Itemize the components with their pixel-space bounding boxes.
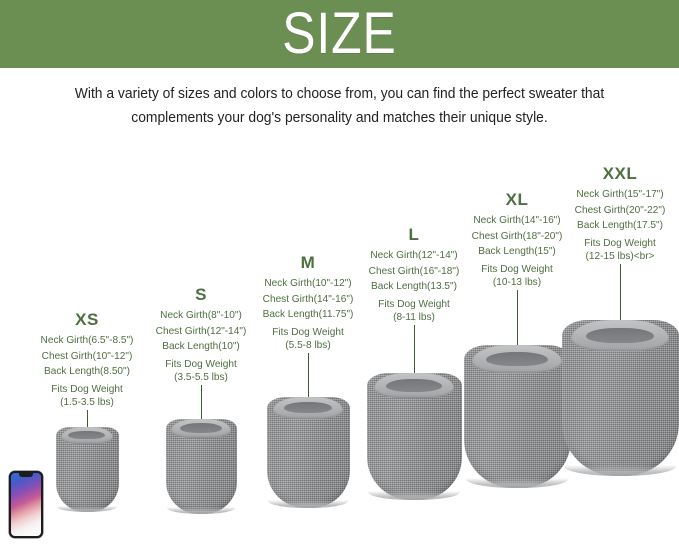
weight-block-l: Fits Dog Weight (8-11 lbs) (355, 298, 473, 325)
back-length-xxl: Back Length(17.5") (563, 218, 677, 234)
phone-screen (11, 473, 41, 536)
size-label-xs: XS (28, 310, 146, 330)
sweater-hem-xxl (564, 465, 676, 476)
sweater-body-xl (464, 345, 571, 488)
weight-value-xxl: (12-15 lbs)<br> (563, 250, 677, 264)
neck-girth-l: Neck Girth(12"-14") (357, 248, 471, 264)
sweater-collar-xs (61, 427, 114, 444)
sweater-hem-xl (466, 478, 569, 488)
sweater-collar-m (273, 397, 343, 419)
sweater-collar-opening-xl (486, 352, 549, 366)
back-length-s: Back Length(10") (144, 339, 258, 355)
chest-girth-m: Chest Girth(14"-16") (251, 292, 365, 308)
chest-girth-s: Chest Girth(12"-14") (144, 324, 258, 340)
weight-block-xl: Fits Dog Weight (10-13 lbs) (458, 263, 576, 290)
weight-title-m: Fits Dog Weight (251, 326, 365, 340)
phone-notch (19, 473, 33, 477)
size-label-m: M (249, 253, 367, 273)
weight-value-xs: (1.5-3.5 lbs) (30, 396, 144, 410)
back-length-xs: Back Length(8.50") (30, 364, 144, 380)
connector-line-m (308, 353, 309, 397)
weight-title-xxl: Fits Dog Weight (563, 237, 677, 251)
weight-title-xl: Fits Dog Weight (460, 263, 574, 277)
weight-value-m: (5.5-8 lbs) (251, 339, 365, 353)
connector-line-xs (87, 410, 88, 427)
subtitle-line-2: complements your dog's personality and m… (38, 106, 641, 130)
sweater-image-xs (56, 427, 119, 512)
size-label-xxl: XXL (561, 164, 679, 184)
sweater-body-m (267, 397, 350, 508)
chest-girth-xl: Chest Girth(18"-20") (460, 229, 574, 245)
chest-girth-xxl: Chest Girth(20"-22") (563, 203, 677, 219)
connector-line-s (201, 385, 202, 419)
weight-block-xs: Fits Dog Weight (1.5-3.5 lbs) (28, 383, 146, 410)
sweater-body-s (166, 419, 237, 514)
back-length-l: Back Length(13.5") (357, 279, 471, 295)
connector-line-l (414, 325, 415, 373)
sweater-collar-xl (472, 345, 562, 374)
sweater-collar-opening-xxl (586, 328, 655, 344)
sweater-body-l (367, 373, 462, 500)
sweater-hem-m (268, 500, 348, 508)
phone-mockup-icon (9, 471, 43, 538)
sweater-collar-opening-s (180, 423, 222, 433)
size-column-xl: XL Neck Girth(14"-16") Chest Girth(18"-2… (458, 190, 576, 488)
neck-girth-m: Neck Girth(10"-12") (251, 276, 365, 292)
weight-block-m: Fits Dog Weight (5.5-8 lbs) (249, 326, 367, 353)
weight-value-l: (8-11 lbs) (357, 311, 471, 325)
size-column-xs: XS Neck Girth(6.5"-8.5") Chest Girth(10"… (28, 310, 146, 512)
neck-girth-xs: Neck Girth(6.5"-8.5") (30, 333, 144, 349)
weight-block-xxl: Fits Dog Weight (12-15 lbs)<br> (561, 237, 679, 264)
sweater-image-l (367, 373, 462, 500)
chest-girth-l: Chest Girth(16"-18") (357, 264, 471, 280)
subtitle: With a variety of sizes and colors to ch… (38, 82, 641, 130)
size-chart: XS Neck Girth(6.5"-8.5") Chest Girth(10"… (0, 150, 679, 546)
weight-title-xs: Fits Dog Weight (30, 383, 144, 397)
back-length-xl: Back Length(15") (460, 244, 574, 260)
size-column-xxl: XXL Neck Girth(15"-17") Chest Girth(20"-… (561, 164, 679, 476)
header-bar: SIZE (0, 0, 679, 68)
sweater-image-xxl (562, 320, 679, 476)
neck-girth-xl: Neck Girth(14"-16") (460, 213, 574, 229)
weight-block-s: Fits Dog Weight (3.5-5.5 lbs) (142, 358, 260, 385)
sweater-collar-l (374, 373, 454, 398)
size-column-m: M Neck Girth(10"-12") Chest Girth(14"-16… (249, 253, 367, 508)
sweater-hem-xs (57, 506, 117, 512)
neck-girth-xxl: Neck Girth(15"-17") (563, 187, 677, 203)
sweater-image-m (267, 397, 350, 508)
size-column-l: L Neck Girth(12"-14") Chest Girth(16"-18… (355, 225, 473, 500)
sweater-image-s (166, 419, 237, 514)
sweater-hem-s (167, 507, 235, 514)
sweater-collar-opening-l (386, 379, 442, 392)
sweater-collar-s (171, 419, 231, 438)
sweater-body-xs (56, 427, 119, 512)
connector-line-xxl (620, 264, 621, 320)
connector-line-xl (517, 290, 518, 345)
sweater-body-xxl (562, 320, 679, 476)
weight-title-l: Fits Dog Weight (357, 298, 471, 312)
size-column-s: S Neck Girth(8"-10") Chest Girth(12"-14"… (142, 285, 260, 514)
size-label-l: L (355, 225, 473, 245)
sweater-collar-xxl (571, 320, 669, 351)
weight-value-s: (3.5-5.5 lbs) (144, 371, 258, 385)
sweater-collar-opening-m (284, 402, 333, 413)
sweater-collar-opening-xs (68, 431, 105, 440)
neck-girth-s: Neck Girth(8"-10") (144, 308, 258, 324)
page-title: SIZE (282, 5, 396, 63)
size-label-s: S (142, 285, 260, 305)
sweater-image-xl (464, 345, 571, 488)
weight-title-s: Fits Dog Weight (144, 358, 258, 372)
chest-girth-xs: Chest Girth(10"-12") (30, 349, 144, 365)
size-label-xl: XL (458, 190, 576, 210)
sweater-hem-l (368, 491, 459, 500)
back-length-m: Back Length(11.75") (251, 307, 365, 323)
weight-value-xl: (10-13 lbs) (460, 276, 574, 290)
subtitle-line-1: With a variety of sizes and colors to ch… (38, 82, 641, 106)
